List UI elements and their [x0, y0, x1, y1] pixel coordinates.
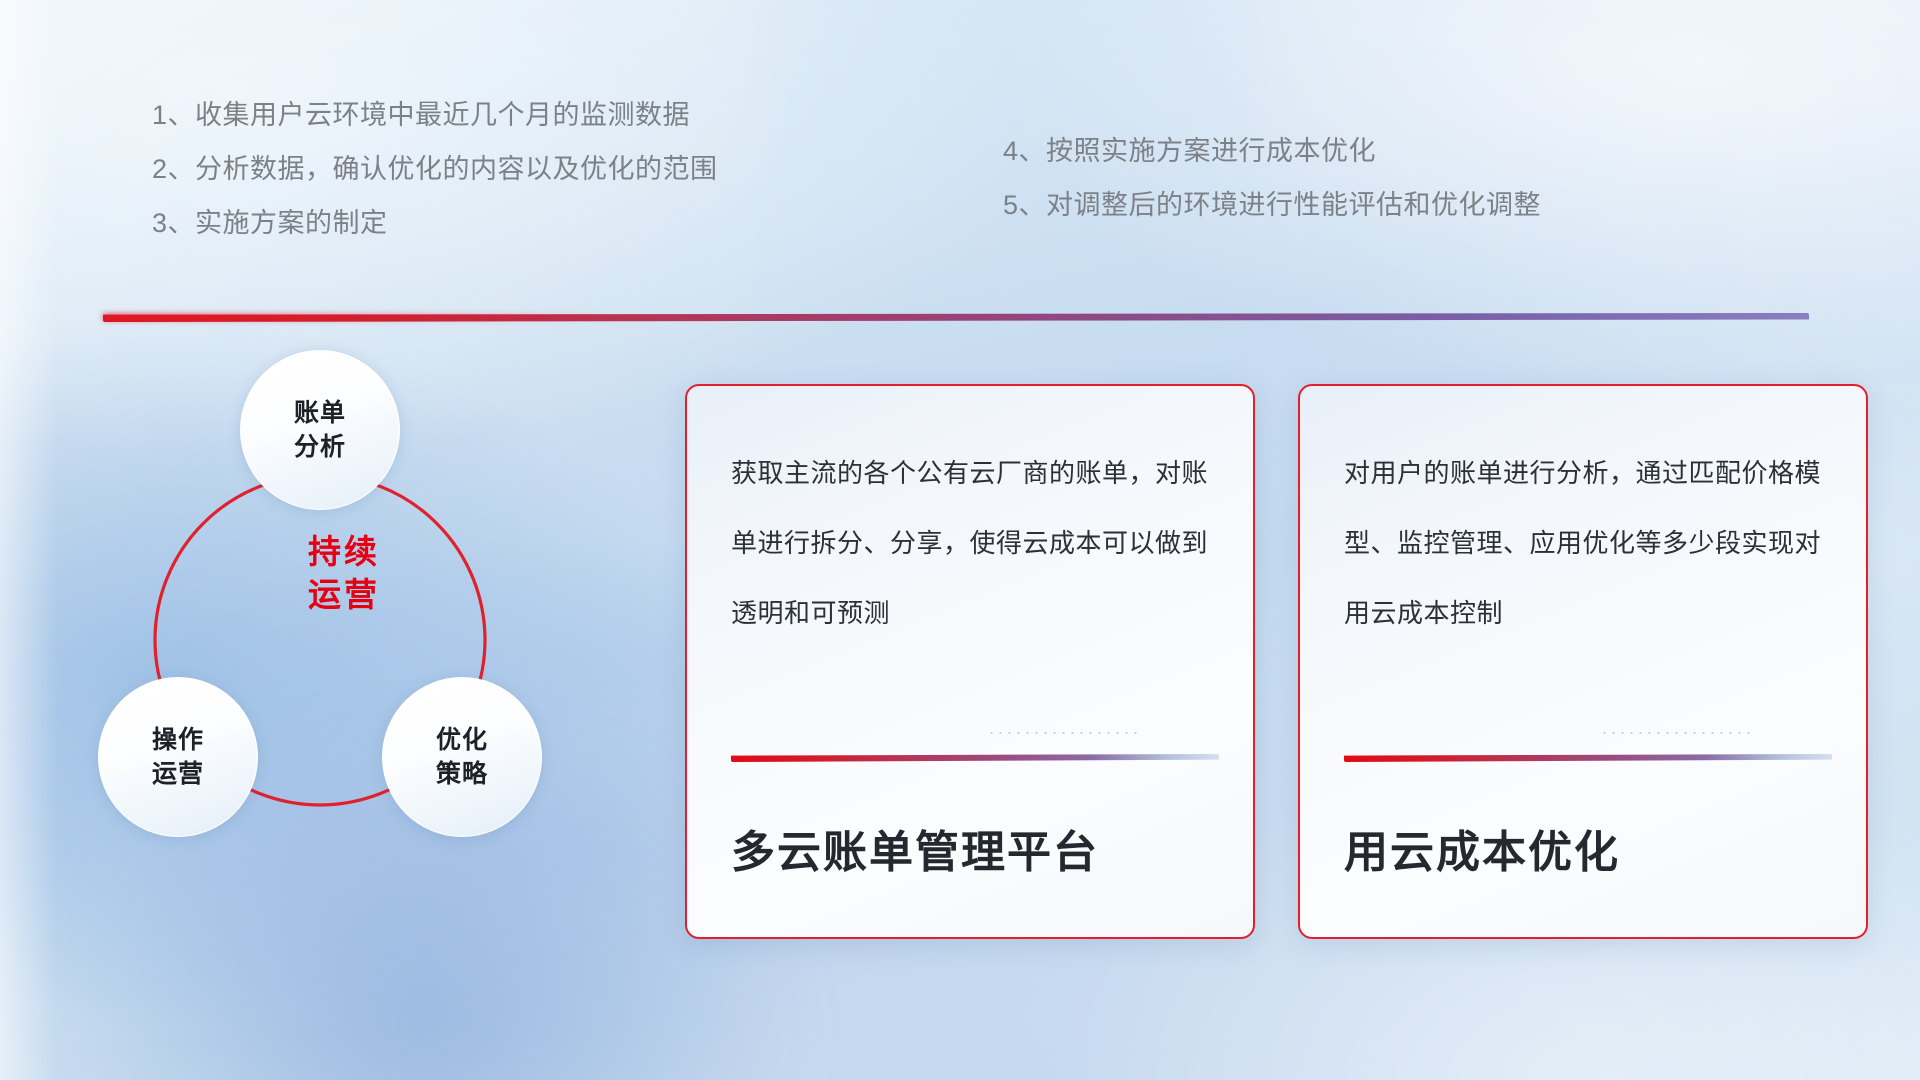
feature-card-title: 多云账单管理平台 [731, 816, 1099, 880]
list-item: 5、对调整后的环境进行性能评估和优化调整 [1003, 178, 1541, 232]
feature-card-body: 获取主流的各个公有云厂商的账单，对账单进行拆分、分享，使得云成本可以做到透明和可… [731, 438, 1209, 728]
list-item: 2、分析数据，确认优化的内容以及优化的范围 [152, 142, 718, 196]
feature-card-cloud-cost-optimization[interactable]: 对用户的账单进行分析，通过匹配价格模型、监控管理、应用优化等多少段实现对用云成本… [1298, 384, 1868, 939]
feature-card-dotted-accent [987, 731, 1137, 735]
feature-card-rule [1344, 754, 1832, 762]
diagram-node-operations[interactable]: 操作 运营 [98, 677, 258, 837]
process-step-list-right-column: 4、按照实施方案进行成本优化 5、对调整后的环境进行性能评估和优化调整 [1003, 124, 1541, 232]
section-divider [103, 313, 1809, 322]
continuous-operations-diagram: 账单 分析 操作 运营 优化 策略 持续 运营 [98, 350, 618, 940]
process-step-list: 1、收集用户云环境中最近几个月的监测数据 2、分析数据，确认优化的内容以及优化的… [0, 88, 1920, 268]
list-item: 1、收集用户云环境中最近几个月的监测数据 [152, 88, 718, 142]
diagram-node-label-line1: 账单 [294, 396, 346, 430]
feature-card-multicloud-billing[interactable]: 获取主流的各个公有云厂商的账单，对账单进行拆分、分享，使得云成本可以做到透明和可… [685, 384, 1255, 939]
list-item: 4、按照实施方案进行成本优化 [1003, 124, 1541, 178]
process-step-list-left-column: 1、收集用户云环境中最近几个月的监测数据 2、分析数据，确认优化的内容以及优化的… [152, 88, 718, 250]
diagram-center-label-line1: 持续 [254, 530, 434, 573]
feature-card-dotted-accent [1600, 731, 1750, 735]
section-divider-glow [103, 314, 615, 320]
feature-card-title: 用云成本优化 [1344, 816, 1620, 880]
diagram-node-label-line2: 策略 [436, 757, 488, 791]
feature-card-body: 对用户的账单进行分析，通过匹配价格模型、监控管理、应用优化等多少段实现对用云成本… [1344, 438, 1822, 728]
diagram-node-label-line2: 运营 [152, 757, 204, 791]
diagram-node-bill-analysis[interactable]: 账单 分析 [240, 350, 400, 510]
diagram-node-optimization-strategy[interactable]: 优化 策略 [382, 677, 542, 837]
list-item: 3、实施方案的制定 [152, 196, 718, 250]
diagram-center-label-line2: 运营 [254, 573, 434, 616]
diagram-node-label-line2: 分析 [294, 430, 346, 464]
diagram-node-label-line1: 操作 [152, 723, 204, 757]
feature-card-rule [731, 754, 1219, 762]
diagram-center-label: 持续 运营 [254, 530, 434, 616]
diagram-node-label-line1: 优化 [436, 723, 488, 757]
